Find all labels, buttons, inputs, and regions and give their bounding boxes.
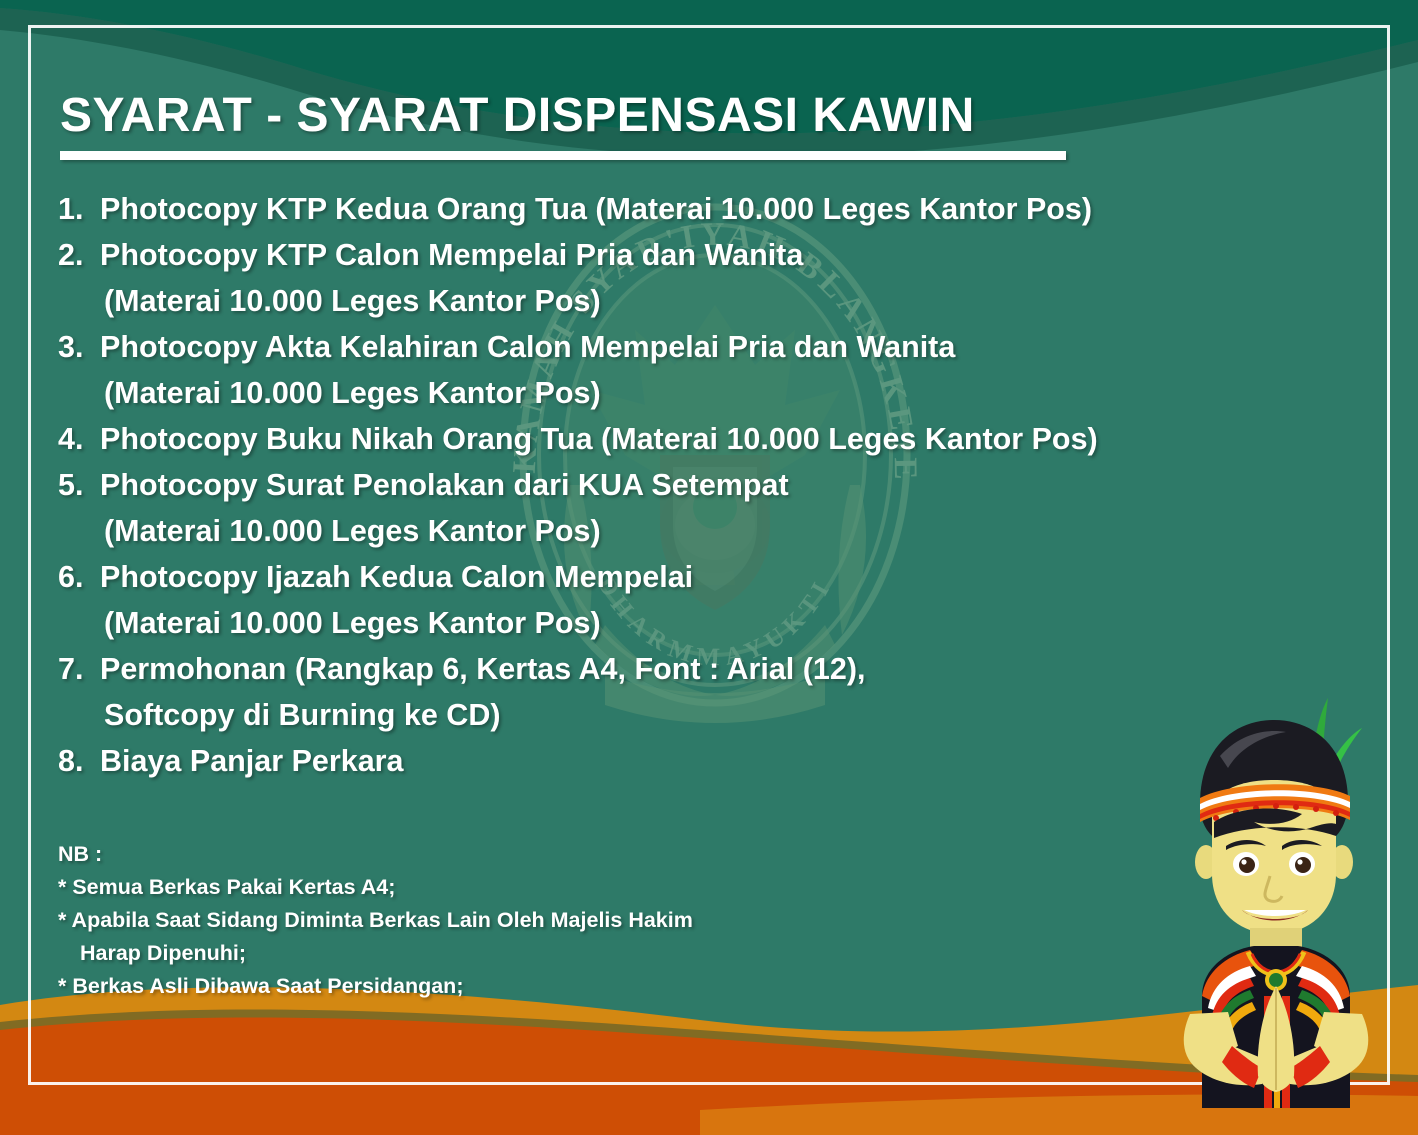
notes-block: NB :* Semua Berkas Pakai Kertas A4;* Apa… [58, 838, 1058, 1003]
requirement-text: Softcopy di Burning ke CD) [104, 692, 501, 738]
requirements-list: 1.Photocopy KTP Kedua Orang Tua (Materai… [58, 186, 1378, 784]
requirement-number: 6. [58, 554, 100, 600]
requirement-item: 2.Photocopy KTP Calon Mempelai Pria dan … [58, 232, 1378, 278]
note-item: * Berkas Asli Dibawa Saat Persidangan; [58, 970, 1058, 1003]
requirement-item: (Materai 10.000 Leges Kantor Pos) [58, 508, 1378, 554]
requirement-text: Photocopy KTP Kedua Orang Tua (Materai 1… [100, 186, 1092, 232]
requirement-item: (Materai 10.000 Leges Kantor Pos) [58, 600, 1378, 646]
requirement-number: 5. [58, 462, 100, 508]
note-item: Harap Dipenuhi; [58, 937, 1058, 970]
requirement-item: (Materai 10.000 Leges Kantor Pos) [58, 278, 1378, 324]
requirement-text: Permohonan (Rangkap 6, Kertas A4, Font :… [100, 646, 865, 692]
title-block: SYARAT - SYARAT DISPENSASI KAWIN [60, 88, 1160, 160]
requirement-item: 1.Photocopy KTP Kedua Orang Tua (Materai… [58, 186, 1378, 232]
requirement-text: Photocopy Akta Kelahiran Calon Mempelai … [100, 324, 955, 370]
requirement-text: Biaya Panjar Perkara [100, 738, 404, 784]
page-title: SYARAT - SYARAT DISPENSASI KAWIN [60, 88, 1160, 143]
note-item: * Semua Berkas Pakai Kertas A4; [58, 871, 1058, 904]
notes-heading: NB : [58, 838, 1058, 871]
dayak-boy-greeting-mascot [1142, 696, 1410, 1108]
requirement-item: 4.Photocopy Buku Nikah Orang Tua (Matera… [58, 416, 1378, 462]
title-underline [60, 151, 1066, 160]
requirement-number: 1. [58, 186, 100, 232]
requirement-item: 6.Photocopy Ijazah Kedua Calon Mempelai [58, 554, 1378, 600]
requirement-text: Photocopy Ijazah Kedua Calon Mempelai [100, 554, 693, 600]
requirement-text: (Materai 10.000 Leges Kantor Pos) [104, 508, 601, 554]
requirement-text: Photocopy Buku Nikah Orang Tua (Materai … [100, 416, 1098, 462]
requirement-text: (Materai 10.000 Leges Kantor Pos) [104, 600, 601, 646]
requirement-number: 4. [58, 416, 100, 462]
requirement-item: 3.Photocopy Akta Kelahiran Calon Mempela… [58, 324, 1378, 370]
poster-root: MAHKAMAH SYAR'IYAH BLANGKEJEREN DHARMMAY… [0, 0, 1418, 1135]
requirement-item: 7.Permohonan (Rangkap 6, Kertas A4, Font… [58, 646, 1378, 692]
requirement-item: (Materai 10.000 Leges Kantor Pos) [58, 370, 1378, 416]
requirement-text: (Materai 10.000 Leges Kantor Pos) [104, 278, 601, 324]
requirement-item: 5.Photocopy Surat Penolakan dari KUA Set… [58, 462, 1378, 508]
requirement-text: (Materai 10.000 Leges Kantor Pos) [104, 370, 601, 416]
requirement-number: 2. [58, 232, 100, 278]
requirement-text: Photocopy KTP Calon Mempelai Pria dan Wa… [100, 232, 803, 278]
requirement-number: 7. [58, 646, 100, 692]
requirement-number: 8. [58, 738, 100, 784]
requirement-text: Photocopy Surat Penolakan dari KUA Setem… [100, 462, 789, 508]
requirement-number: 3. [58, 324, 100, 370]
note-item: * Apabila Saat Sidang Diminta Berkas Lai… [58, 904, 1058, 937]
